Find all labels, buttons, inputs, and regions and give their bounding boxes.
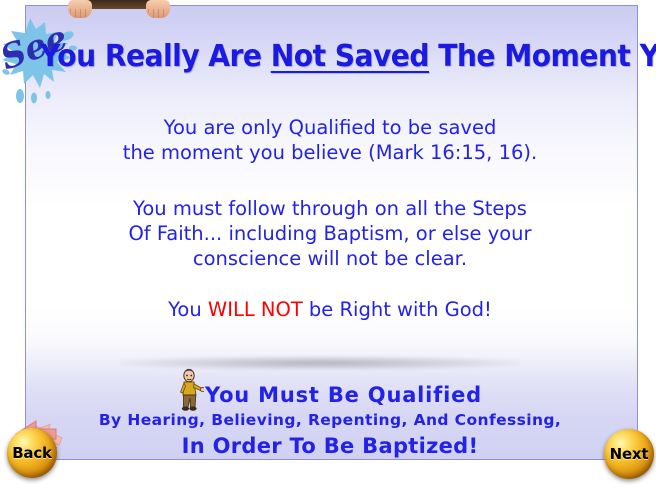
- board-graphic: [84, 0, 154, 9]
- back-orb[interactable]: Back: [7, 428, 57, 478]
- paragraph-three-emphasis: WILL NOT: [208, 298, 303, 321]
- title-part-1: You Really Are: [40, 39, 271, 74]
- paragraph-two-line-2: Of Faith... including Baptism, or else y…: [30, 221, 630, 246]
- next-button-label: Next: [610, 445, 649, 463]
- paragraph-three-pre: You: [168, 298, 208, 321]
- cartoon-man-pointing-icon: [178, 368, 204, 412]
- paragraph-two-line-1: You must follow through on all the Steps: [30, 196, 630, 221]
- hands-holding-board-image: [62, 0, 182, 20]
- back-button[interactable]: Back: [2, 419, 66, 483]
- presentation-slide: See You Really Are Not Saved The Moment …: [0, 0, 656, 484]
- paragraph-one: You are only Qualified to be saved the m…: [30, 115, 630, 165]
- paragraph-three-post: be Right with God!: [303, 298, 492, 321]
- footer-line-order: In Order To Be Baptized!: [30, 434, 630, 458]
- paragraph-two-line-3: conscience will not be clear.: [30, 246, 630, 271]
- paragraph-one-line-1: You are only Qualified to be saved: [30, 115, 630, 140]
- slide-title: You Really Are Not Saved The Moment You …: [40, 34, 609, 86]
- paragraph-one-line-2: the moment you believe (Mark 16:15, 16).: [30, 140, 630, 165]
- next-orb[interactable]: Next: [604, 429, 654, 479]
- back-button-label: Back: [12, 444, 52, 462]
- footer-line-by: By Hearing, Believing, Repenting, And Co…: [30, 411, 630, 429]
- right-hand-graphic: [146, 0, 170, 18]
- paragraph-two: You must follow through on all the Steps…: [30, 196, 630, 271]
- title-part-3: The Moment You Believe...: [429, 39, 656, 74]
- title-part-underlined: Not Saved: [271, 39, 429, 74]
- qualified-heading-label: You Must Be Qualified: [205, 383, 482, 407]
- paragraph-three: You WILL NOT be Right with God!: [30, 297, 630, 322]
- next-button[interactable]: Next: [596, 424, 656, 488]
